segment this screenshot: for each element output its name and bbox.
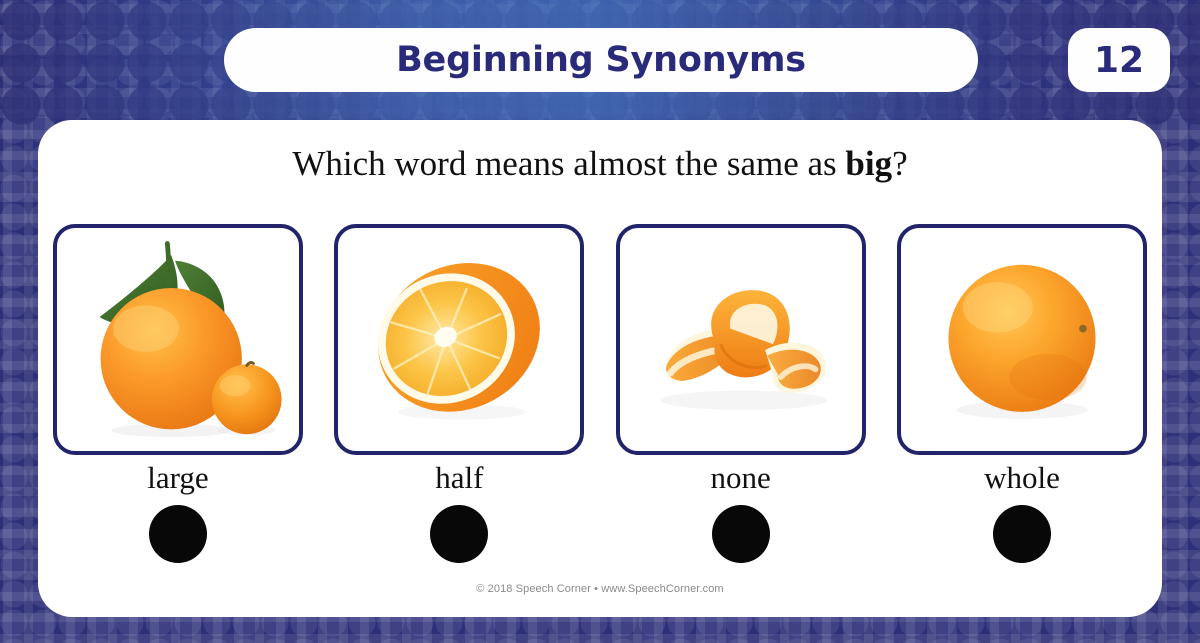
halved-orange-cross-section-image [338,228,580,452]
question-keyword: big [845,144,892,183]
orange-with-leaves-and-small-mandarin-image [57,228,299,452]
question-text: Which word means almost the same as big? [38,144,1162,184]
choice-label: large [147,462,208,493]
choice-image-card[interactable] [897,224,1147,455]
choice-label: none [711,462,771,493]
spiral-orange-peel-image [620,228,862,452]
answer-dot[interactable] [430,505,488,563]
page-title: Beginning Synonyms [396,40,806,80]
choice-image-card[interactable] [616,224,866,455]
answer-dot[interactable] [993,505,1051,563]
content-panel: Which word means almost the same as big? [38,120,1162,617]
whole-orange-image [901,228,1143,452]
choice-label: half [435,462,483,493]
choice-image-card[interactable] [53,224,303,455]
answer-dot[interactable] [149,505,207,563]
choice-half[interactable]: half [333,224,585,563]
choice-image-card[interactable] [334,224,584,455]
question-suffix: ? [892,144,908,183]
choice-label: whole [984,462,1060,493]
question-prefix: Which word means almost the same as [292,144,845,183]
choice-row: large [52,224,1148,563]
card-number-badge: 12 [1068,28,1170,92]
choice-large[interactable]: large [52,224,304,563]
card-number-value: 12 [1094,40,1144,81]
answer-dot[interactable] [712,505,770,563]
choice-whole[interactable]: whole [896,224,1148,563]
title-bar: Beginning Synonyms [224,28,978,92]
choice-none[interactable]: none [615,224,867,563]
copyright-footer: © 2018 Speech Corner • www.SpeechCorner.… [38,583,1162,595]
